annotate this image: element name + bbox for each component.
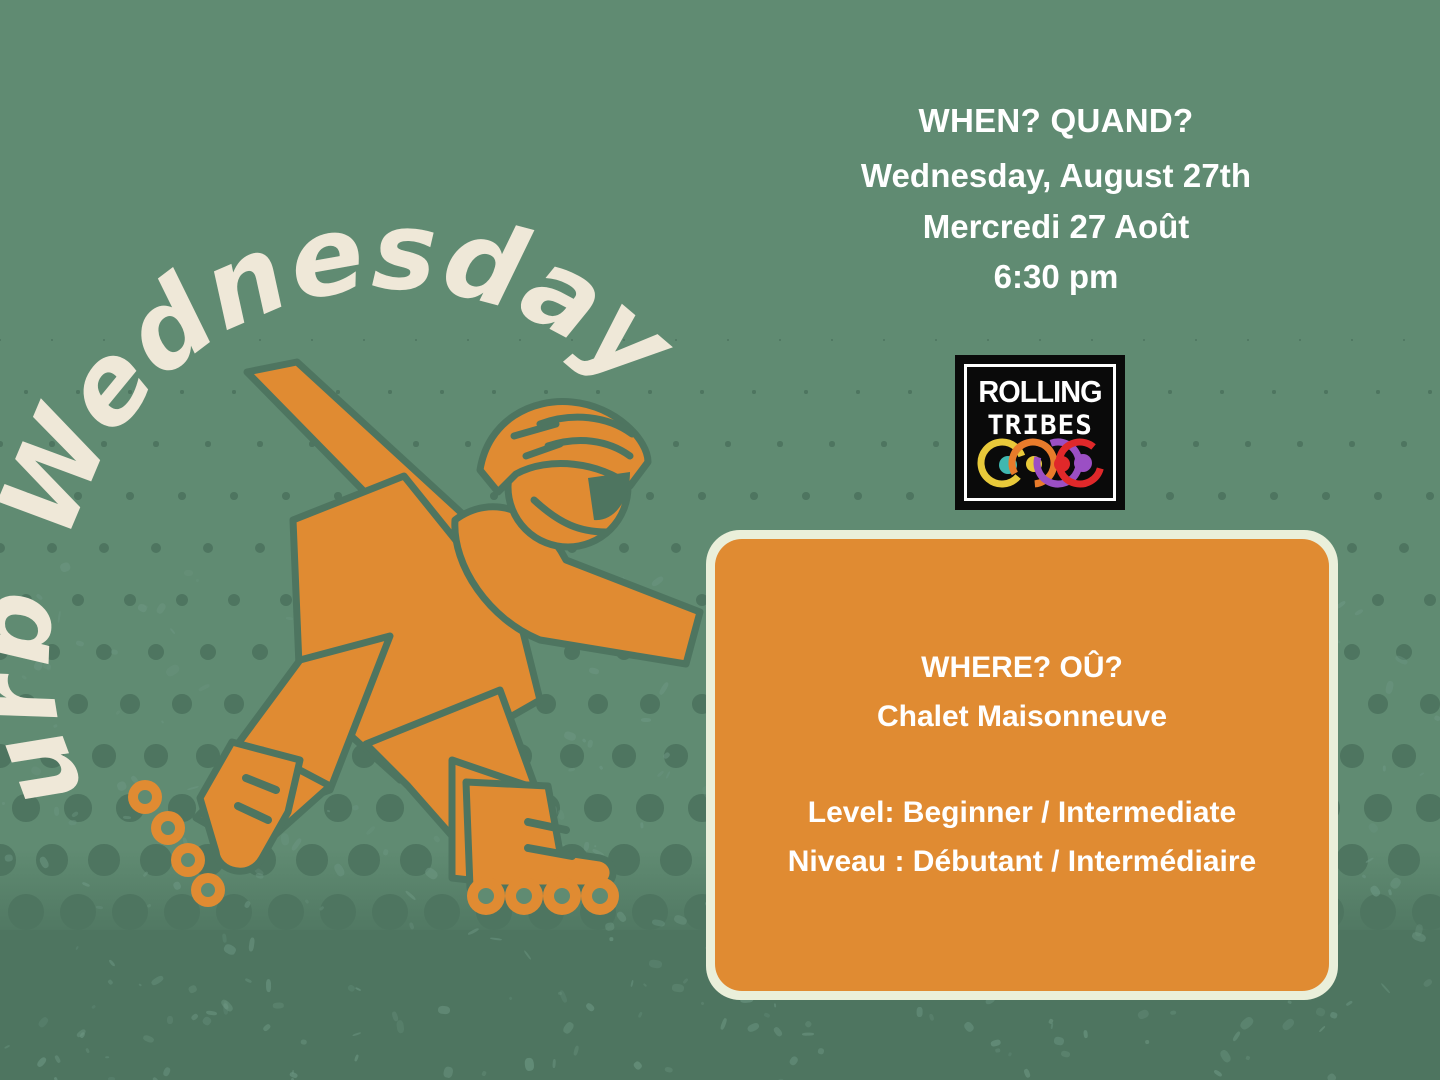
logo-line-rolling: ROLLING bbox=[978, 376, 1101, 407]
when-heading: WHEN? QUAND? bbox=[744, 100, 1368, 142]
when-time: 6:30 pm bbox=[744, 255, 1368, 300]
where-venue: Chalet Maisonneuve bbox=[877, 697, 1167, 738]
level-fr: Niveau : Débutant / Intermédiaire bbox=[788, 842, 1256, 883]
logo-rings-icon bbox=[967, 436, 1113, 490]
when-block: WHEN? QUAND? Wednesday, August 27th Merc… bbox=[744, 100, 1368, 300]
where-card-border: WHERE? OÛ? Chalet Maisonneuve Level: Beg… bbox=[706, 530, 1338, 1000]
when-date-fr: Mercredi 27 Août bbox=[744, 205, 1368, 250]
when-date-en: Wednesday, August 27th bbox=[744, 154, 1368, 199]
where-card: WHERE? OÛ? Chalet Maisonneuve Level: Beg… bbox=[715, 539, 1329, 991]
logo-line-tribes: TRIBES bbox=[987, 412, 1093, 439]
where-heading: WHERE? OÛ? bbox=[921, 648, 1123, 689]
logo-frame: ROLLING TRIBES bbox=[964, 364, 1116, 501]
level-en: Level: Beginner / Intermediate bbox=[808, 793, 1236, 834]
poster-canvas: Wednesday urban bbox=[0, 0, 1440, 1080]
rolling-tribes-logo: ROLLING TRIBES bbox=[955, 355, 1125, 510]
